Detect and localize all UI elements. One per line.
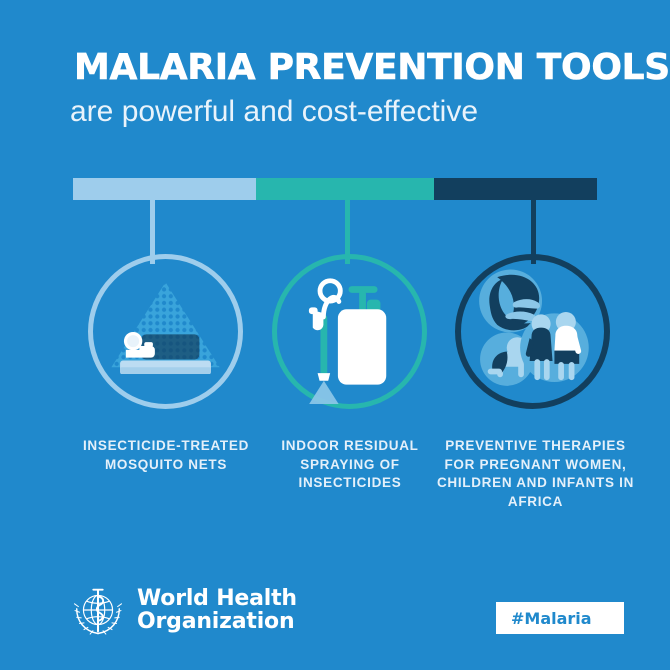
insecticide-sprayer-icon: [277, 259, 422, 404]
bar-segment-nets: [73, 178, 256, 200]
infographic-canvas: MALARIA PREVENTION TOOLS are powerful an…: [0, 0, 670, 670]
bar-segment-therapies: [434, 178, 597, 200]
who-logo-line2: Organization: [137, 610, 297, 633]
pregnant-woman-children-icon: [461, 260, 604, 403]
tool-circle-spraying: [272, 254, 427, 409]
hashtag-label: #Malaria: [496, 609, 592, 628]
mosquito-net-icon: [93, 259, 238, 404]
who-logo: World Health Organization: [70, 582, 297, 638]
hashtag-badge[interactable]: #Malaria: [496, 602, 624, 634]
tool-circle-therapies: [455, 254, 610, 409]
bar-segment-spraying: [256, 178, 434, 200]
page-subtitle: are powerful and cost-effective: [70, 97, 478, 127]
caption-spraying: INDOOR RESIDUAL SPRAYING OF INSECTICIDES: [250, 437, 450, 493]
segmented-bar: [73, 178, 597, 200]
who-logo-line1: World Health: [137, 587, 297, 610]
caption-nets: INSECTICIDE-TREATED MOSQUITO NETS: [56, 437, 276, 474]
tool-circle-nets: [88, 254, 243, 409]
caption-therapies: PREVENTIVE THERAPIES FOR PREGNANT WOMEN,…: [428, 437, 643, 512]
who-logo-text: World Health Organization: [137, 587, 297, 634]
page-title: MALARIA PREVENTION TOOLS: [74, 50, 670, 86]
who-emblem-icon: [70, 582, 126, 638]
